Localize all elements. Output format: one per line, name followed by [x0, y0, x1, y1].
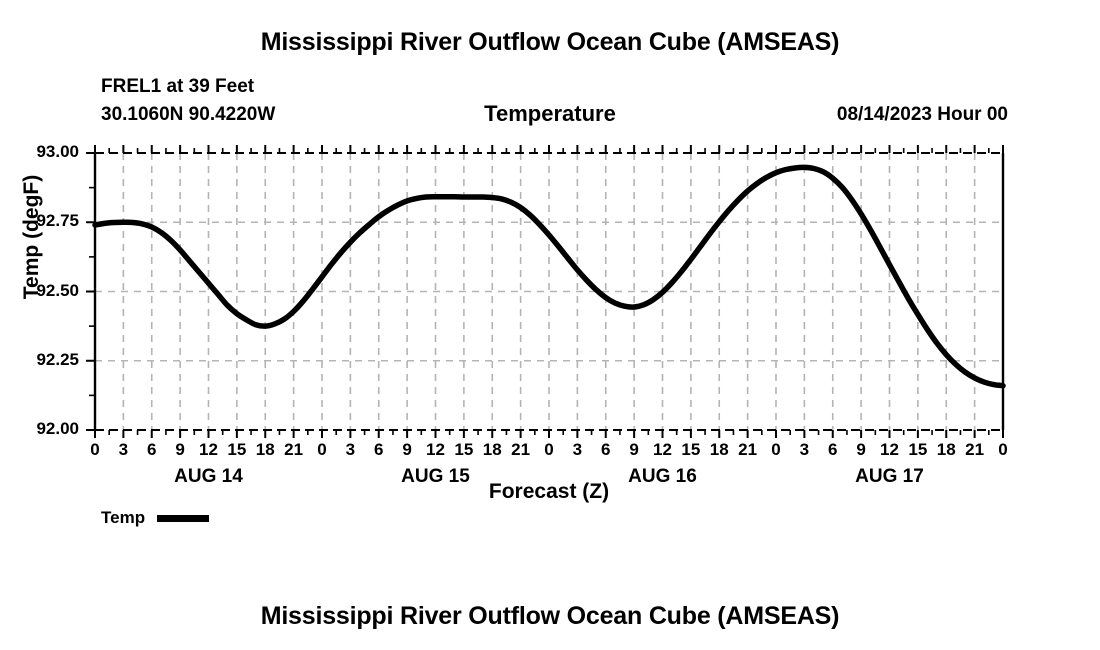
chart-page: Mississippi River Outflow Ocean Cube (AM…	[0, 0, 1100, 650]
x-tick-label: 18	[250, 440, 280, 460]
x-tick-label: 3	[108, 440, 138, 460]
x-tick-label: 0	[761, 440, 791, 460]
x-tick-label: 0	[80, 440, 110, 460]
x-tick-label: 9	[165, 440, 195, 460]
data-series-layer	[95, 167, 1003, 385]
legend-label-temp: Temp	[101, 508, 145, 528]
x-tick-label: 3	[335, 440, 365, 460]
x-tick-label: 18	[477, 440, 507, 460]
x-tick-label: 3	[789, 440, 819, 460]
series-line-temp	[95, 167, 1003, 385]
x-tick-label: 21	[279, 440, 309, 460]
day-label: AUG 17	[825, 466, 955, 488]
x-tick-label: 0	[307, 440, 337, 460]
axis-frame	[95, 153, 1003, 430]
forecast-datestamp: 08/14/2023 Hour 00	[837, 104, 1008, 126]
x-tick-label: 3	[562, 440, 592, 460]
x-tick-label: 21	[960, 440, 990, 460]
x-tick-label: 6	[591, 440, 621, 460]
day-label: AUG 14	[144, 466, 274, 488]
day-label: AUG 16	[598, 466, 728, 488]
x-tick-label: 12	[421, 440, 451, 460]
x-tick-label: 9	[392, 440, 422, 460]
x-tick-label: 15	[903, 440, 933, 460]
x-tick-label: 12	[648, 440, 678, 460]
x-tick-label: 15	[449, 440, 479, 460]
x-tick-label: 15	[676, 440, 706, 460]
x-tick-label: 15	[222, 440, 252, 460]
x-tick-label: 9	[619, 440, 649, 460]
x-tick-label: 12	[194, 440, 224, 460]
page-title: Mississippi River Outflow Ocean Cube (AM…	[0, 28, 1100, 57]
x-tick-label: 6	[364, 440, 394, 460]
x-tick-label: 12	[875, 440, 905, 460]
x-tick-label: 21	[506, 440, 536, 460]
y-tick-label: 92.00	[9, 419, 79, 439]
grid-lines	[95, 153, 1003, 430]
y-tick-label: 93.00	[9, 142, 79, 162]
x-tick-label: 6	[818, 440, 848, 460]
x-tick-label: 0	[534, 440, 564, 460]
legend-swatch-temp	[157, 515, 209, 522]
y-tick-label: 92.25	[9, 350, 79, 370]
x-tick-label: 9	[846, 440, 876, 460]
station-label: FREL1 at 39 Feet	[101, 76, 254, 98]
x-tick-label: 0	[988, 440, 1018, 460]
y-tick-label: 92.50	[9, 281, 79, 301]
legend: Temp	[101, 508, 209, 528]
x-tick-label: 18	[704, 440, 734, 460]
x-tick-label: 18	[931, 440, 961, 460]
footer-title: Mississippi River Outflow Ocean Cube (AM…	[0, 602, 1100, 631]
y-tick-label: 92.75	[9, 211, 79, 231]
x-tick-label: 6	[137, 440, 167, 460]
x-tick-label: 21	[733, 440, 763, 460]
axis-ticks	[86, 145, 1003, 438]
day-label: AUG 15	[371, 466, 501, 488]
